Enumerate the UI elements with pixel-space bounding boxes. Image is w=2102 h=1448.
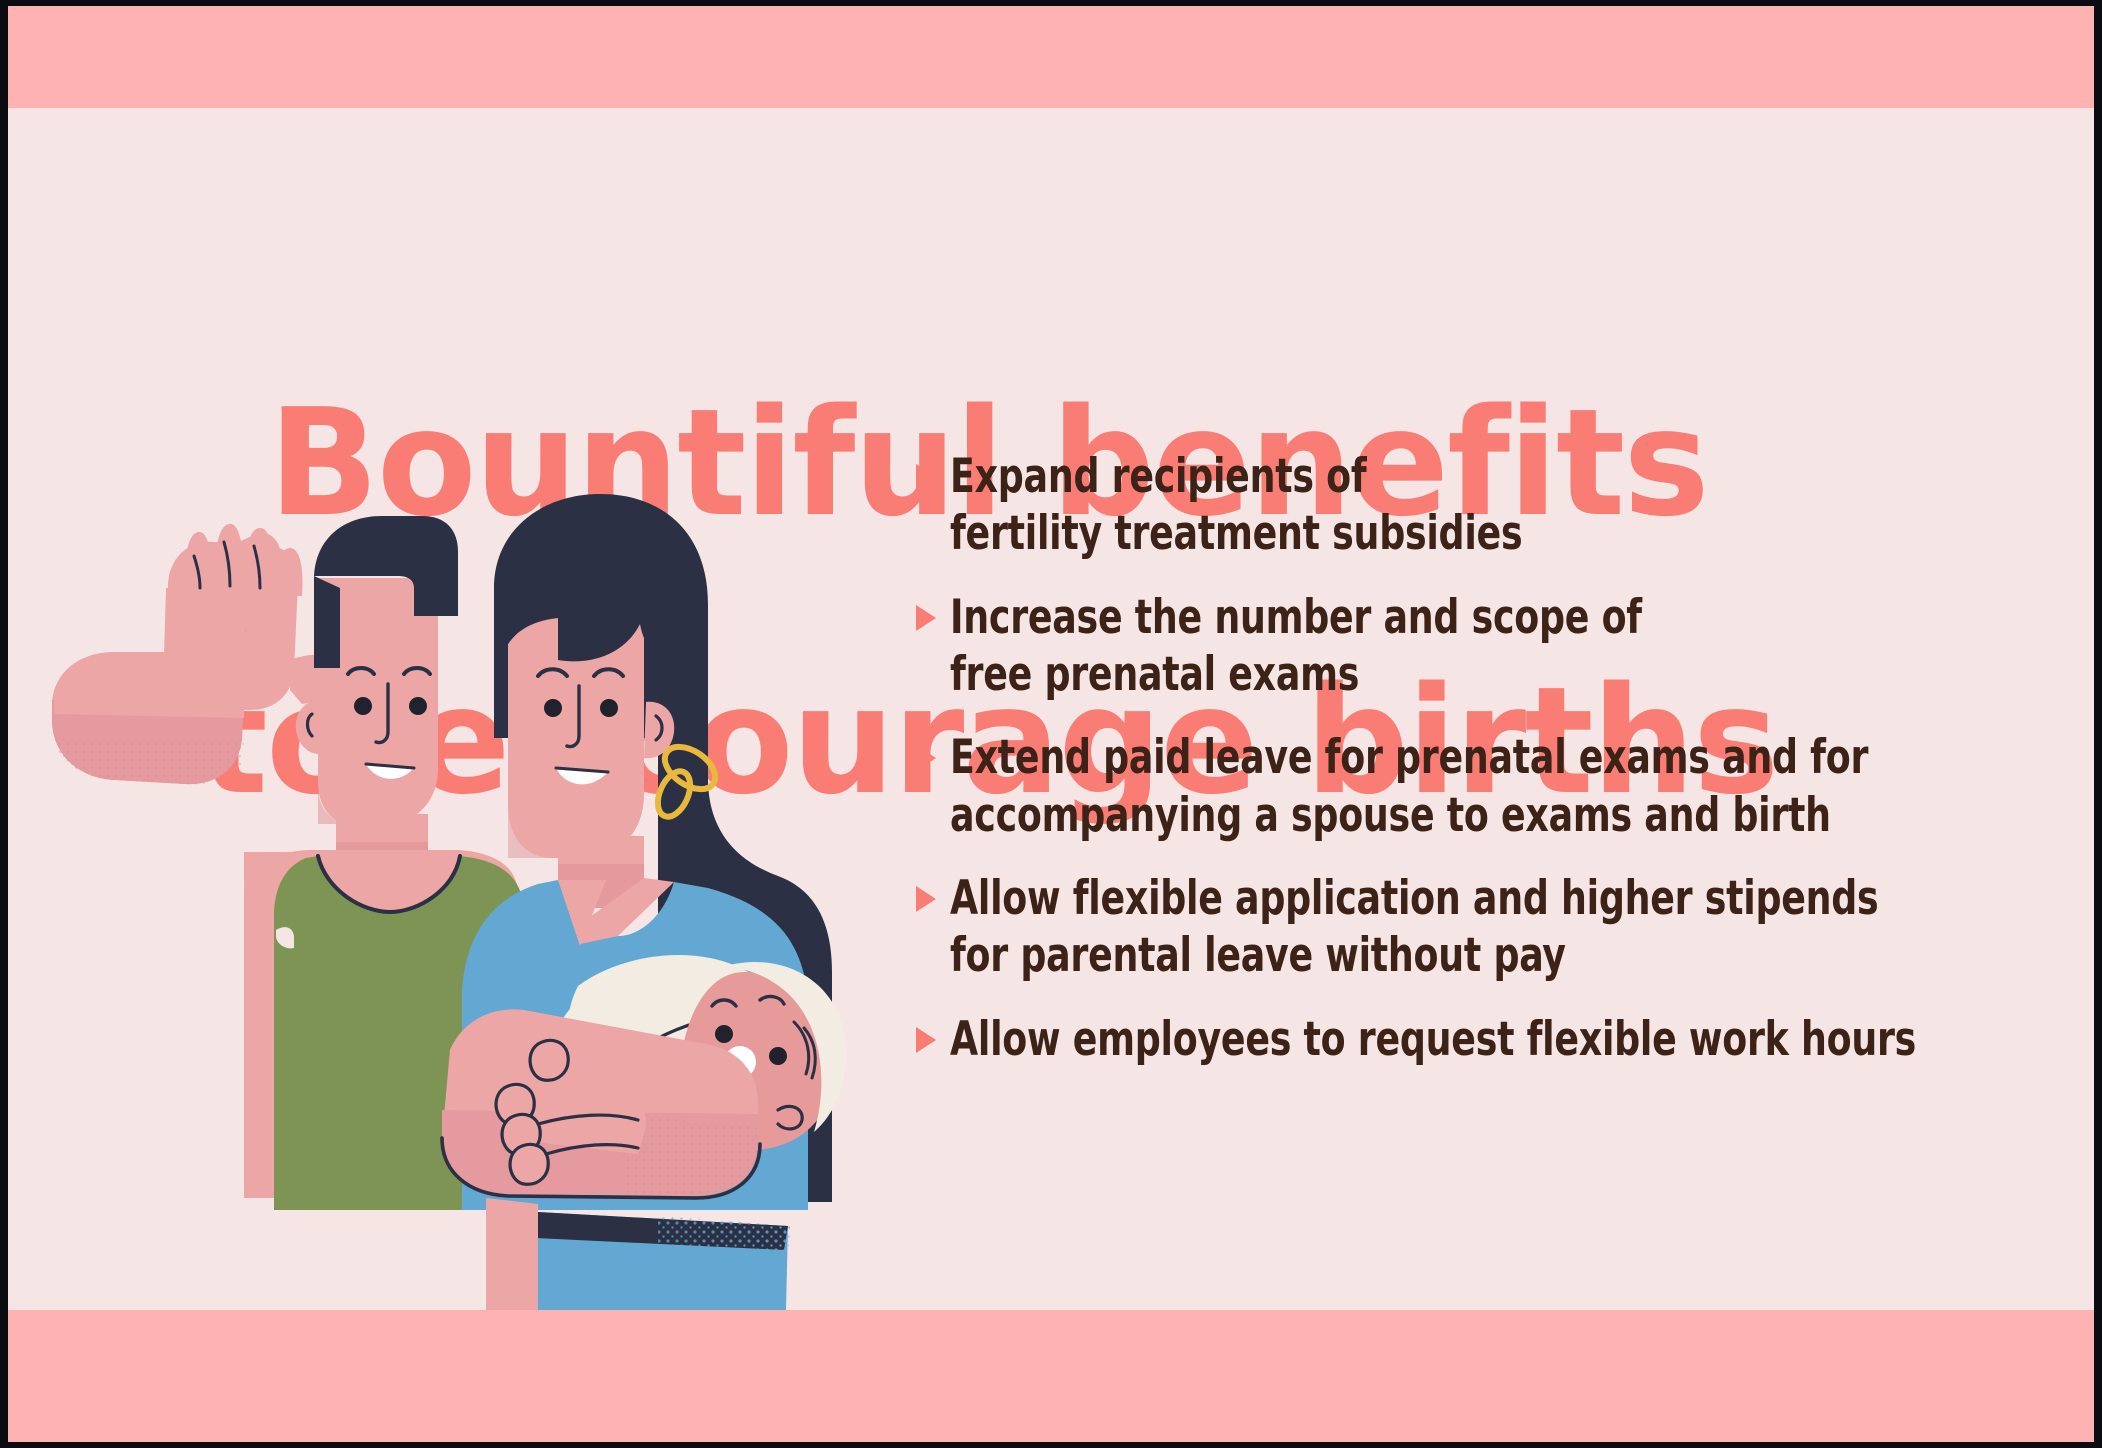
- list-item: Extend paid leave for prenatal exams and…: [916, 729, 2084, 844]
- list-item: Allow flexible application and higher st…: [916, 870, 2084, 985]
- benefit-text: Expand recipients of fertility treatment…: [950, 448, 1925, 563]
- list-item: Allow employees to request flexible work…: [916, 1011, 2084, 1068]
- man-head: [296, 516, 458, 824]
- list-item: Expand recipients of fertility treatment…: [916, 448, 2084, 563]
- family-with-baby-illustration: [18, 438, 918, 1310]
- benefits-list: Expand recipients of fertility treatment…: [916, 448, 2084, 1094]
- top-banner: [8, 6, 2094, 108]
- benefit-text: Allow employees to request flexible work…: [950, 1011, 1925, 1068]
- list-item: Increase the number and scope of free pr…: [916, 589, 2084, 704]
- benefit-text: Extend paid leave for prenatal exams and…: [950, 729, 1925, 844]
- triangle-right-icon: [916, 1027, 936, 1053]
- bottom-banner: [8, 1310, 2094, 1442]
- benefit-text: Allow flexible application and higher st…: [950, 870, 1925, 985]
- triangle-right-icon: [916, 605, 936, 631]
- triangle-right-icon: [916, 745, 936, 771]
- benefit-text: Increase the number and scope of free pr…: [950, 589, 1925, 704]
- infographic-card: Bountiful benefits to encourage births: [0, 0, 2102, 1448]
- triangle-right-icon: [916, 886, 936, 912]
- triangle-right-icon: [916, 464, 936, 490]
- content-stage: Bountiful benefits to encourage births: [8, 108, 2094, 1310]
